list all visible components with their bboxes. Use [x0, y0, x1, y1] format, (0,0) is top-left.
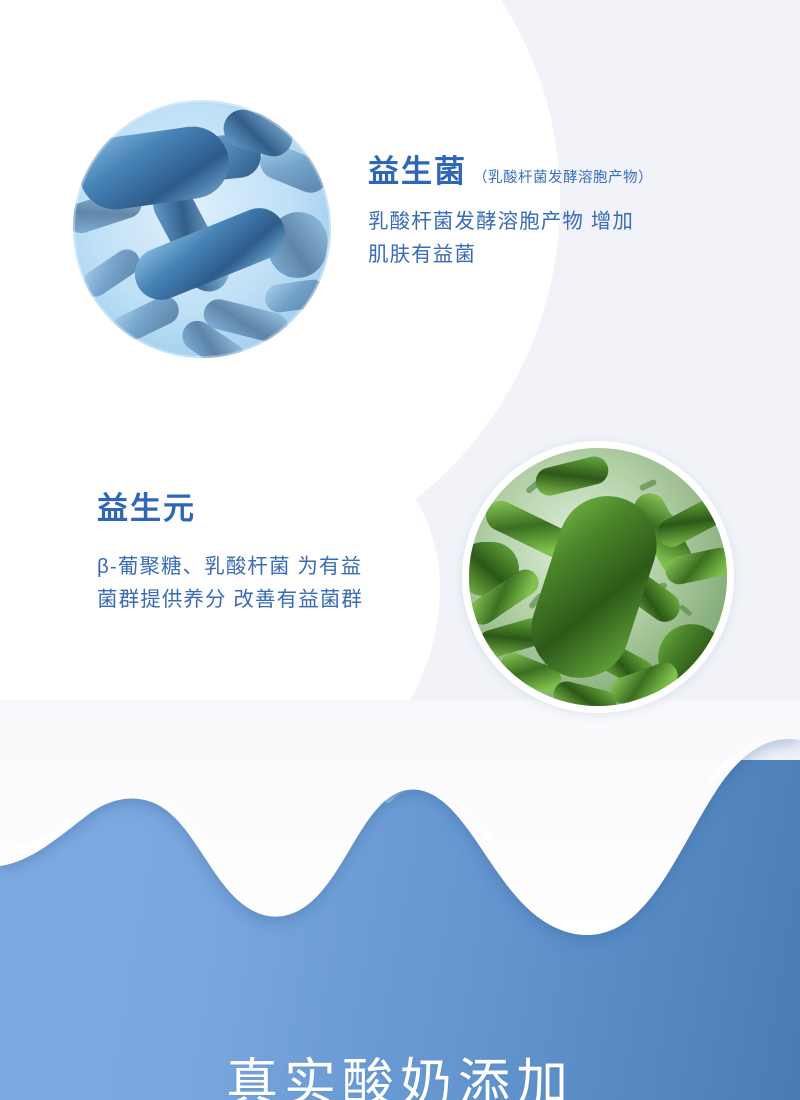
prebiotic-body-line2: 菌群提供养分 改善有益菌群	[97, 583, 497, 616]
milk-drip-wave	[0, 700, 800, 1100]
prebiotic-heading: 益生元	[97, 492, 196, 526]
probiotic-body-line1: 乳酸杆菌发酵溶胞产物 增加	[368, 205, 768, 238]
poster-canvas: 益生菌 （乳酸杆菌发酵溶胞产物） 乳酸杆菌发酵溶胞产物 增加 肌肤有益菌 益生元…	[0, 0, 800, 1100]
prebiotic-body: β-葡聚糖、乳酸杆菌 为有益 菌群提供养分 改善有益菌群	[97, 550, 497, 616]
probiotic-text-block: 益生菌 （乳酸杆菌发酵溶胞产物） 乳酸杆菌发酵溶胞产物 增加 肌肤有益菌	[368, 155, 768, 272]
prebiotic-text-block: 益生元 β-葡聚糖、乳酸杆菌 为有益 菌群提供养分 改善有益菌群	[97, 492, 497, 617]
probiotic-bacteria-image	[73, 100, 331, 358]
probiotic-heading: 益生菌	[368, 155, 467, 189]
prebiotic-bacteria-image	[462, 441, 734, 713]
prebiotic-body-line1: β-葡聚糖、乳酸杆菌 为有益	[97, 550, 497, 583]
probiotic-heading-note: （乳酸杆菌发酵溶胞产物）	[473, 166, 653, 187]
prebiotic-heading-row: 益生元	[97, 492, 497, 526]
probiotic-body: 乳酸杆菌发酵溶胞产物 增加 肌肤有益菌	[368, 205, 768, 271]
bottom-headline: 真实酸奶添加	[0, 1055, 800, 1100]
probiotic-heading-row: 益生菌 （乳酸杆菌发酵溶胞产物）	[368, 155, 768, 189]
probiotic-body-line2: 肌肤有益菌	[368, 238, 768, 271]
